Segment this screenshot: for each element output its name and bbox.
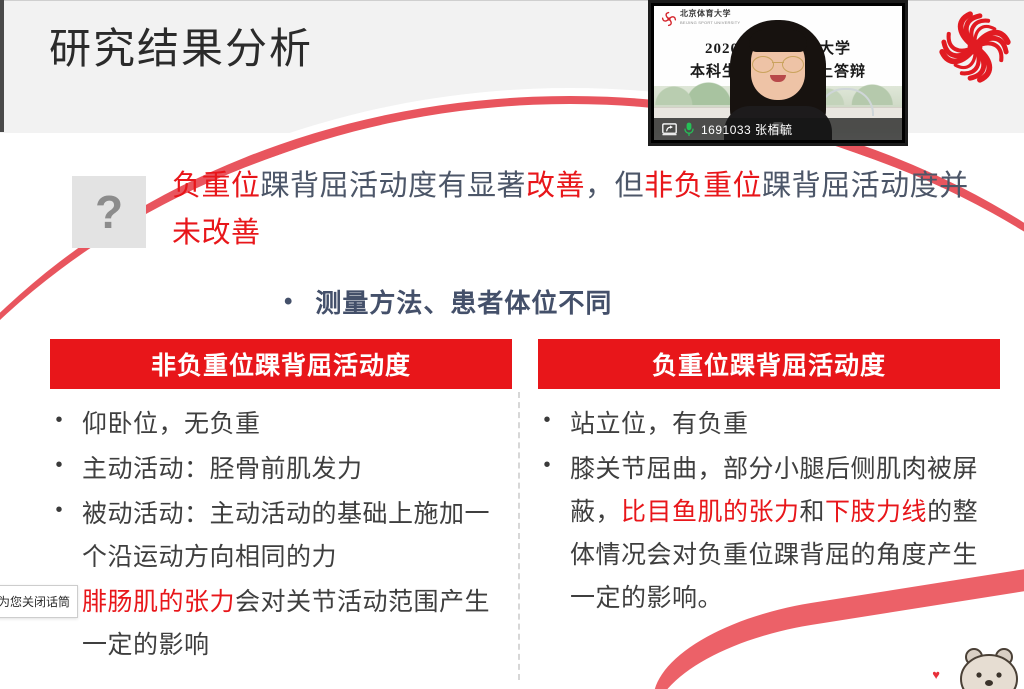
headline-seg: 未改善 [172,217,261,249]
bullet-dot-icon: • [52,448,66,482]
mic-muted-toast: 声，已经为您关闭话筒 [0,585,78,618]
participant-label: 1691033 张栢毓 [701,121,793,138]
video-feed: 北京体育大学 BEIJING SPORT UNIVERSITY 2020年北京体… [654,6,902,140]
bullet-dot-icon: • [540,448,554,482]
glasses-lens-left [752,56,774,73]
video-name-bar: 1691033 张栢毓 [654,118,902,140]
sub-bullet-label: 测量方法、患者体位不同 [315,283,612,320]
sub-bullet: • 测量方法、患者体位不同 [284,283,612,320]
video-university-logo-icon [661,11,677,27]
video-university-name: 北京体育大学 [680,10,731,19]
page-title: 研究结果分析 [49,25,313,73]
headline-paragraph: 负重位踝背屈活动度有显著改善，但非负重位踝背屈活动度并未改善 [172,163,982,258]
list-item-text: 被动活动：主动活动的基础上施加一个沿运动方向相同的力 [82,493,510,579]
heart-icon: ♥ [932,668,940,681]
list-item-text: 腓肠肌的张力会对关节活动范围产生一定的影响 [82,581,510,667]
headline-seg: 改善 [526,170,585,202]
column-divider [518,392,520,680]
glasses-lens-right [782,56,804,73]
presenter-glasses [752,56,804,71]
video-participant-tile[interactable]: 北京体育大学 BEIJING SPORT UNIVERSITY 2020年北京体… [648,0,908,146]
list-item: • 站立位，有负重 [540,403,998,446]
list-item: • 主动活动：胫骨前肌发力 [52,448,510,491]
headline-seg: ，但 [585,170,644,202]
list-item-text: 站立位，有负重 [570,403,998,446]
toast-message: 声，已经为您关闭话筒 [0,593,70,610]
column-weight-bearing: 负重位踝背屈活动度 • 站立位，有负重 • 膝关节屈曲，部分小腿后侧肌肉被屏蔽，… [538,339,1000,622]
list-item-text: 主动活动：胫骨前肌发力 [82,448,510,491]
bullet-dot-icon: • [52,403,66,437]
list-item: • 仰卧位，无负重 [52,403,510,446]
bullet-dot-icon: • [540,403,554,437]
headline-seg: 负重位 [172,170,261,202]
presenter-fringe [749,30,807,52]
list-item: • 腓肠肌的张力会对关节活动范围产生一定的影响 [52,581,510,667]
microphone-icon[interactable] [684,122,694,136]
bear-sticker-icon [956,643,1022,689]
slide-left-rail [0,0,4,132]
university-swirl-logo [934,6,1016,88]
screen-share-icon[interactable] [662,123,677,136]
bullet-dot-icon: • [284,290,293,314]
list-item: • 被动活动：主动活动的基础上施加一个沿运动方向相同的力 [52,493,510,579]
column-header-right: 负重位踝背屈活动度 [538,339,1000,389]
headline-seg: 非负重位 [644,170,762,202]
column-body-left: • 仰卧位，无负重 • 主动活动：胫骨前肌发力 • 被动活动：主动活动的基础上施… [50,389,512,667]
list-item-text: 仰卧位，无负重 [82,403,510,446]
bullet-dot-icon: • [52,493,66,527]
column-header-left: 非负重位踝背屈活动度 [50,339,512,389]
column-non-weight-bearing: 非负重位踝背屈活动度 • 仰卧位，无负重 • 主动活动：胫骨前肌发力 • 被动活… [50,339,512,669]
headline-seg: 踝背屈活动度有显著 [261,170,527,202]
headline-seg: 踝背屈活动度并 [762,170,969,202]
question-mark-icon: ? [72,176,146,248]
